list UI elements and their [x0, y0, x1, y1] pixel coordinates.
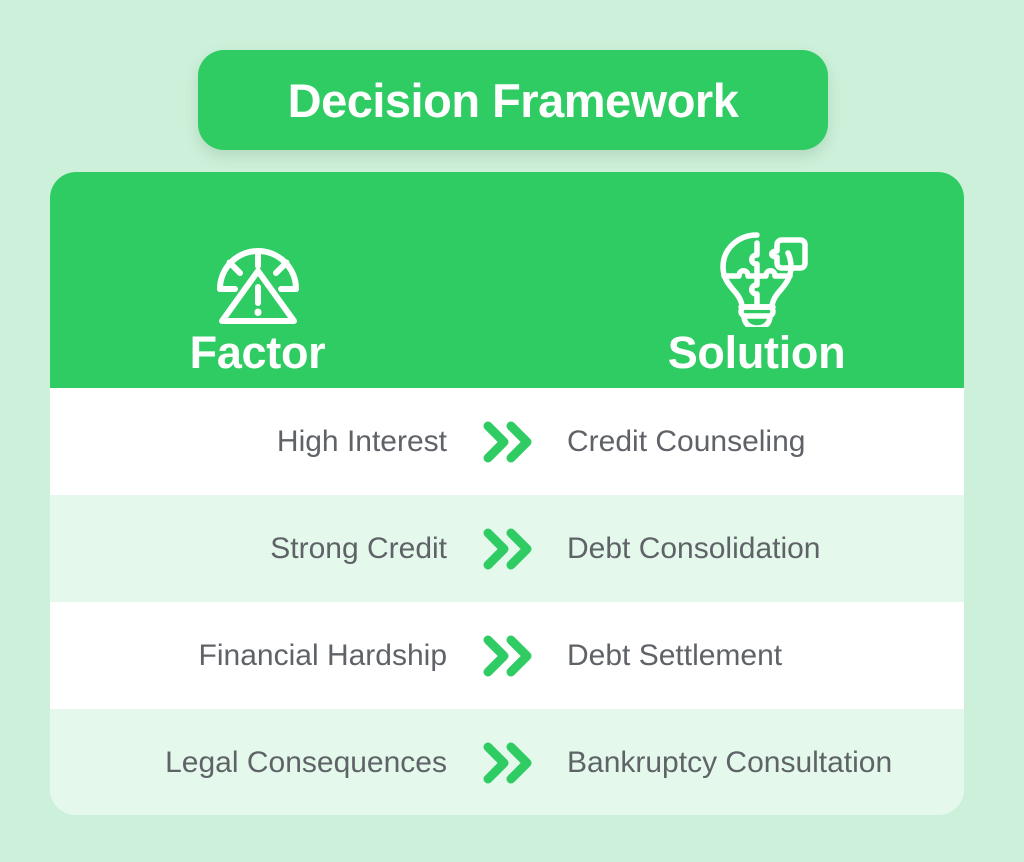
puzzle-lightbulb-icon: [705, 223, 809, 327]
table-row: Legal Consequences Bankruptcy Consultati…: [50, 709, 964, 815]
row-factor-cell: Legal Consequences: [50, 745, 465, 781]
gauge-warning-icon: [206, 223, 310, 327]
table-row: Strong Credit Debt Consolidation: [50, 495, 964, 602]
row-solution-cell: Debt Consolidation: [549, 531, 964, 567]
row-factor-cell: Financial Hardship: [50, 638, 465, 674]
row-factor-cell: High Interest: [50, 424, 465, 460]
row-solution-label: Bankruptcy Consultation: [567, 746, 892, 779]
page-title-banner: Decision Framework: [198, 50, 828, 150]
double-chevron-right-icon: [465, 633, 549, 679]
decision-framework-table: Factor Soluti: [50, 172, 964, 815]
double-chevron-right-icon: [465, 740, 549, 786]
table-header-row: Factor Soluti: [50, 172, 964, 388]
table-row: High Interest Credit Counseling: [50, 388, 964, 495]
column-header-solution: Solution: [549, 223, 964, 376]
row-solution-label: Debt Settlement: [567, 639, 782, 672]
row-solution-cell: Credit Counseling: [549, 424, 964, 460]
column-header-factor-label: Factor: [190, 329, 326, 376]
row-factor-label: Financial Hardship: [199, 639, 447, 672]
double-chevron-right-icon: [465, 526, 549, 572]
double-chevron-right-icon: [465, 419, 549, 465]
row-solution-cell: Debt Settlement: [549, 638, 964, 674]
table-row: Financial Hardship Debt Settlement: [50, 602, 964, 709]
row-factor-label: High Interest: [277, 425, 447, 458]
row-solution-label: Credit Counseling: [567, 425, 805, 458]
row-factor-cell: Strong Credit: [50, 531, 465, 567]
row-solution-cell: Bankruptcy Consultation: [549, 745, 964, 781]
page-title: Decision Framework: [288, 77, 739, 124]
row-factor-label: Strong Credit: [270, 532, 447, 565]
column-header-solution-label: Solution: [668, 329, 846, 376]
row-solution-label: Debt Consolidation: [567, 532, 821, 565]
row-factor-label: Legal Consequences: [165, 746, 447, 779]
column-header-factor: Factor: [50, 223, 465, 376]
